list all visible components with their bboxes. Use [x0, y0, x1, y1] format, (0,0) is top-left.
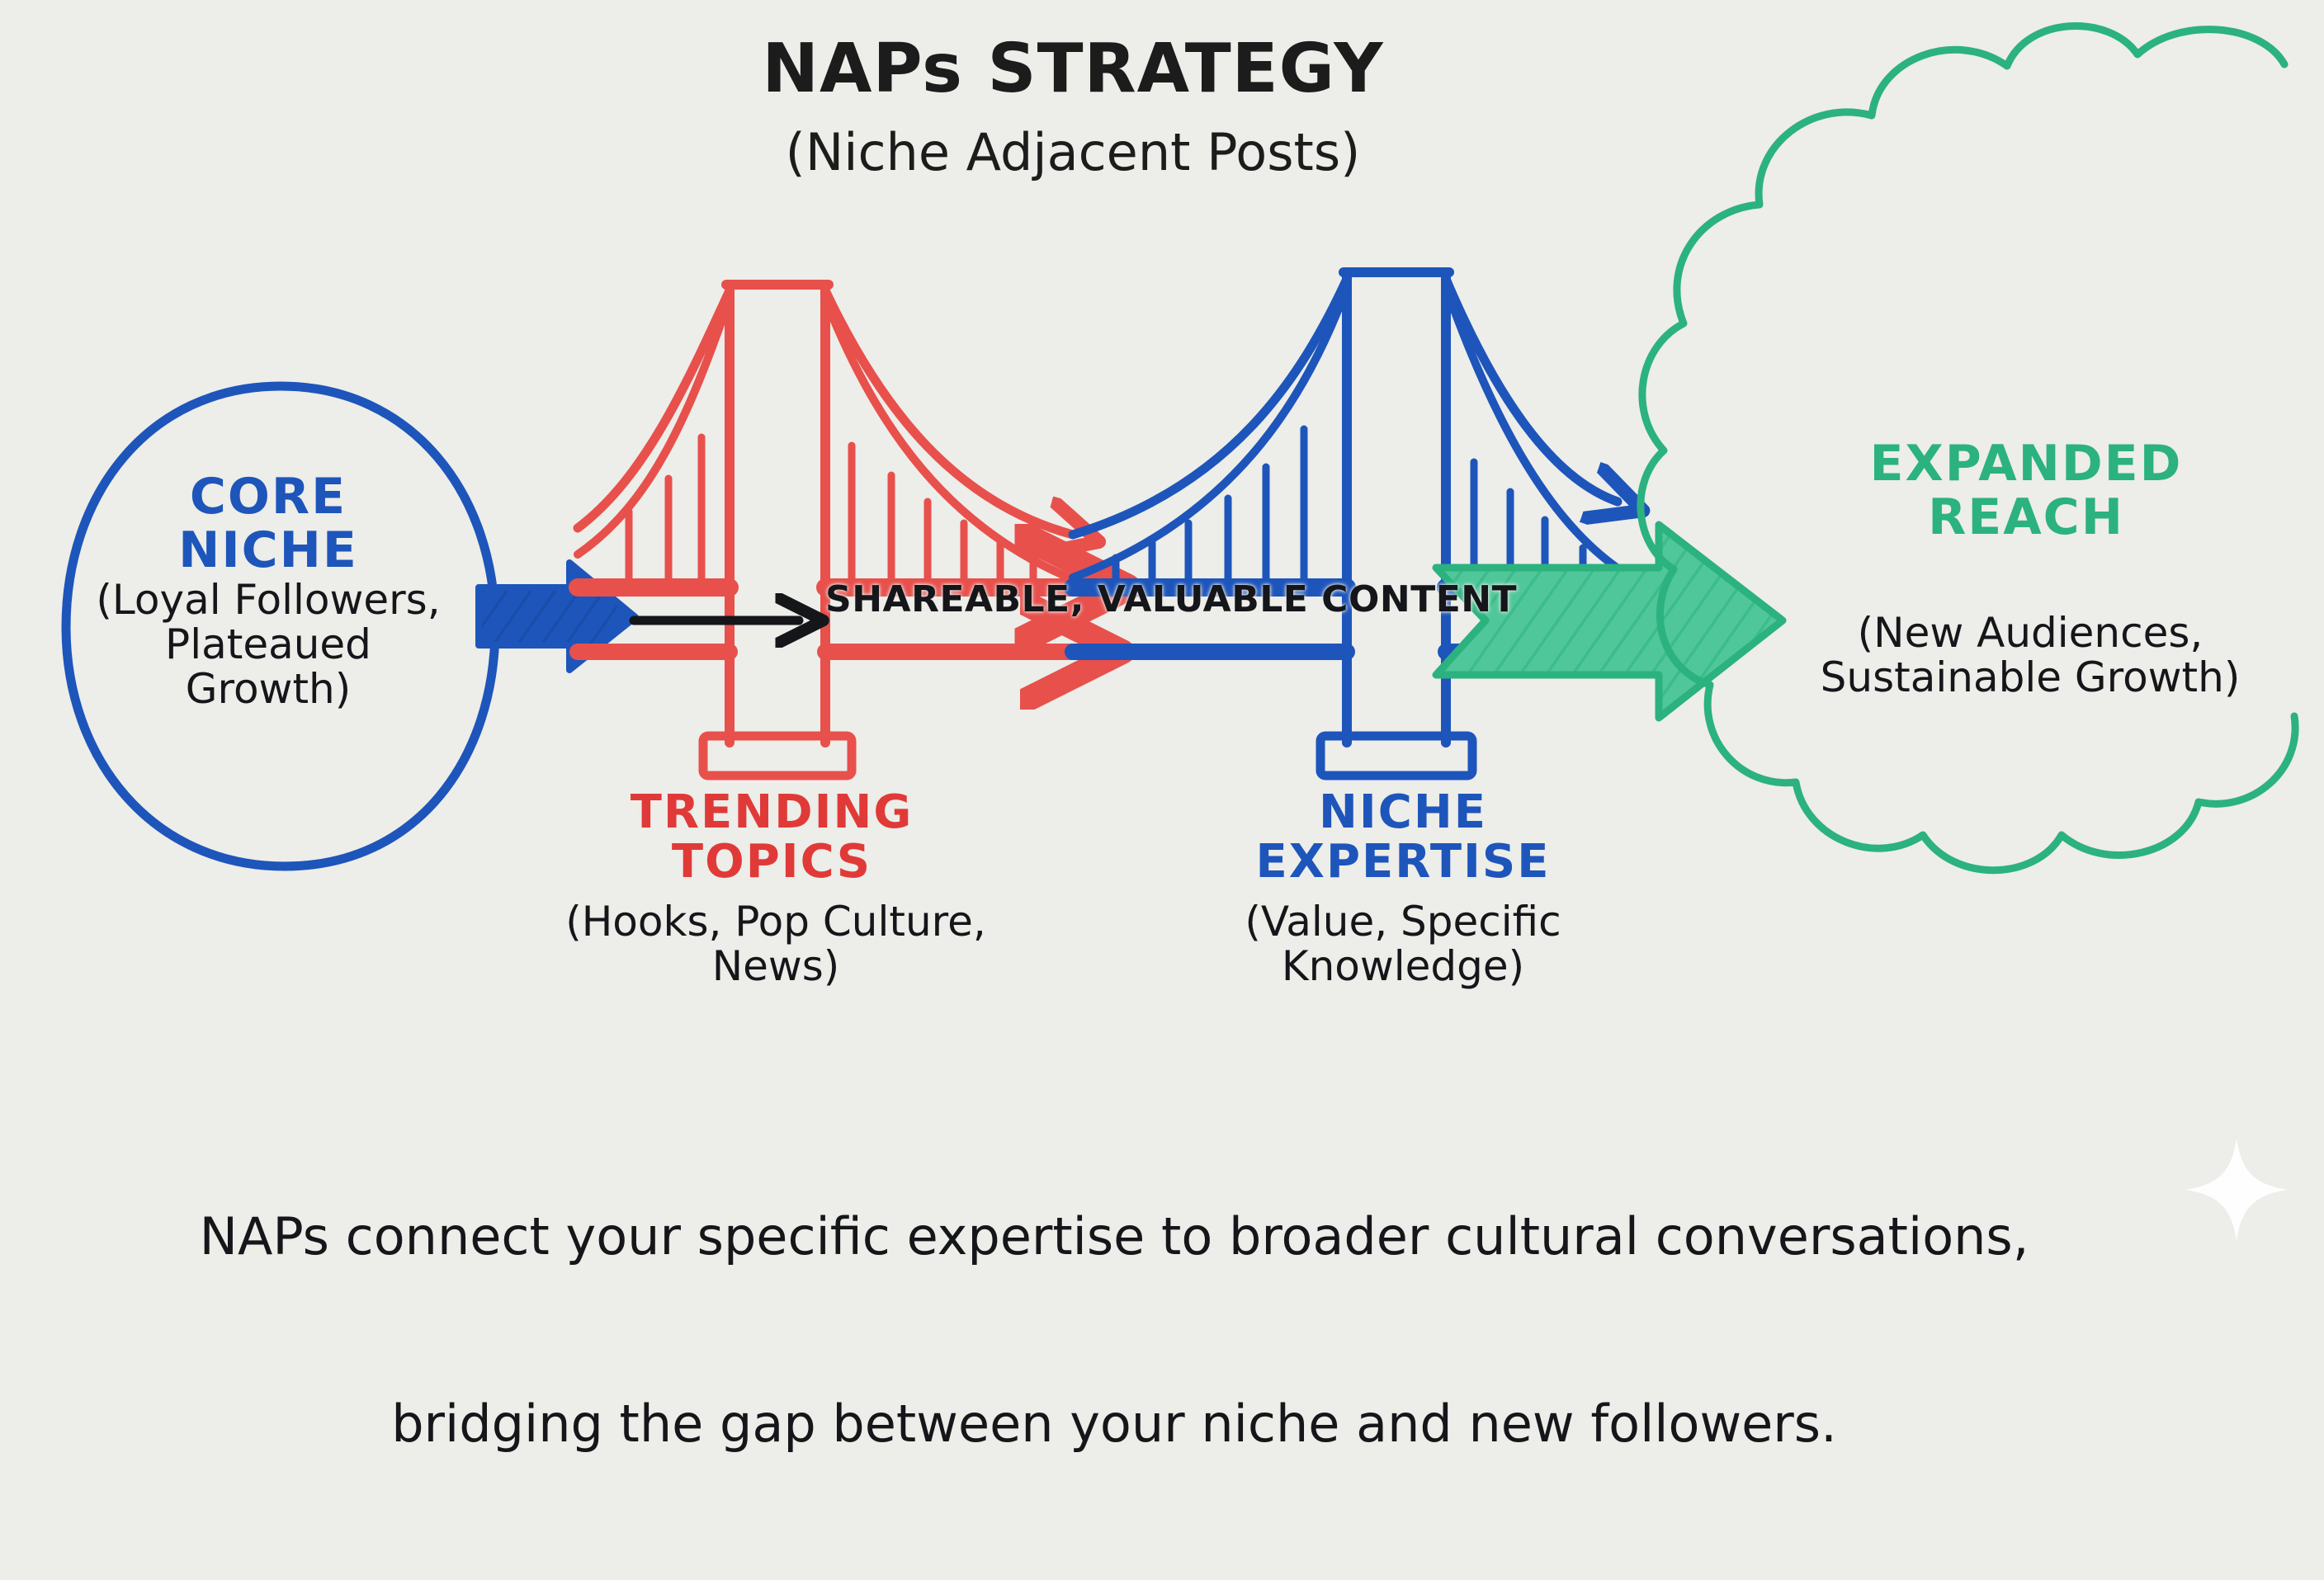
whiteboard-canvas: NAPs STRATEGY (Niche Adjacent Posts) COR… [0, 0, 2324, 1267]
sparkle-icon [2185, 1139, 2288, 1241]
red-bridge [578, 285, 1073, 776]
caption-line-2: bridging the gap between your niche and … [149, 1393, 2080, 1455]
blue-bridge [1073, 272, 1659, 776]
core-niche-circle [66, 386, 495, 866]
expanded-reach-arrow [1436, 525, 1783, 718]
expanded-reach-cloud [1641, 26, 2295, 870]
diagram-artwork [0, 0, 2324, 1267]
